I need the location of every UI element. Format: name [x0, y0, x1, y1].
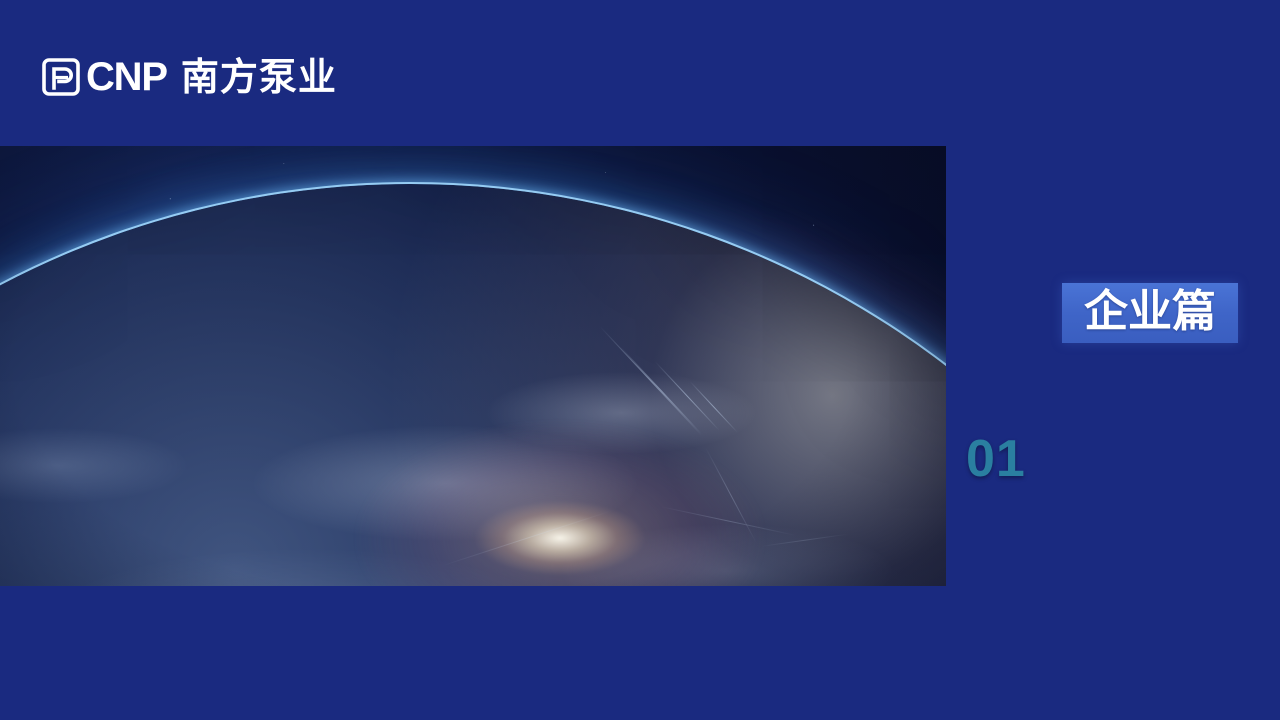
logo-latin-text: CNP: [86, 57, 167, 97]
company-logo: CNP 南方泵业: [42, 50, 337, 102]
section-title-highlight-box: 企业篇: [1062, 283, 1238, 343]
slide-header: CNP 南方泵业: [0, 0, 1280, 146]
section-number: 01: [966, 433, 1026, 485]
slide-footer: 节能泵王绿色中国: [0, 586, 1280, 720]
earth-from-space-photo: [0, 146, 946, 586]
section-title-block: 01 企业篇: [946, 146, 1280, 586]
presentation-slide: CNP 南方泵业 01 企业篇: [0, 0, 1280, 720]
logo-chinese-text: 南方泵业: [181, 58, 337, 96]
cnp-monogram-icon: [42, 58, 80, 96]
section-title-text: 企业篇: [1084, 290, 1216, 334]
